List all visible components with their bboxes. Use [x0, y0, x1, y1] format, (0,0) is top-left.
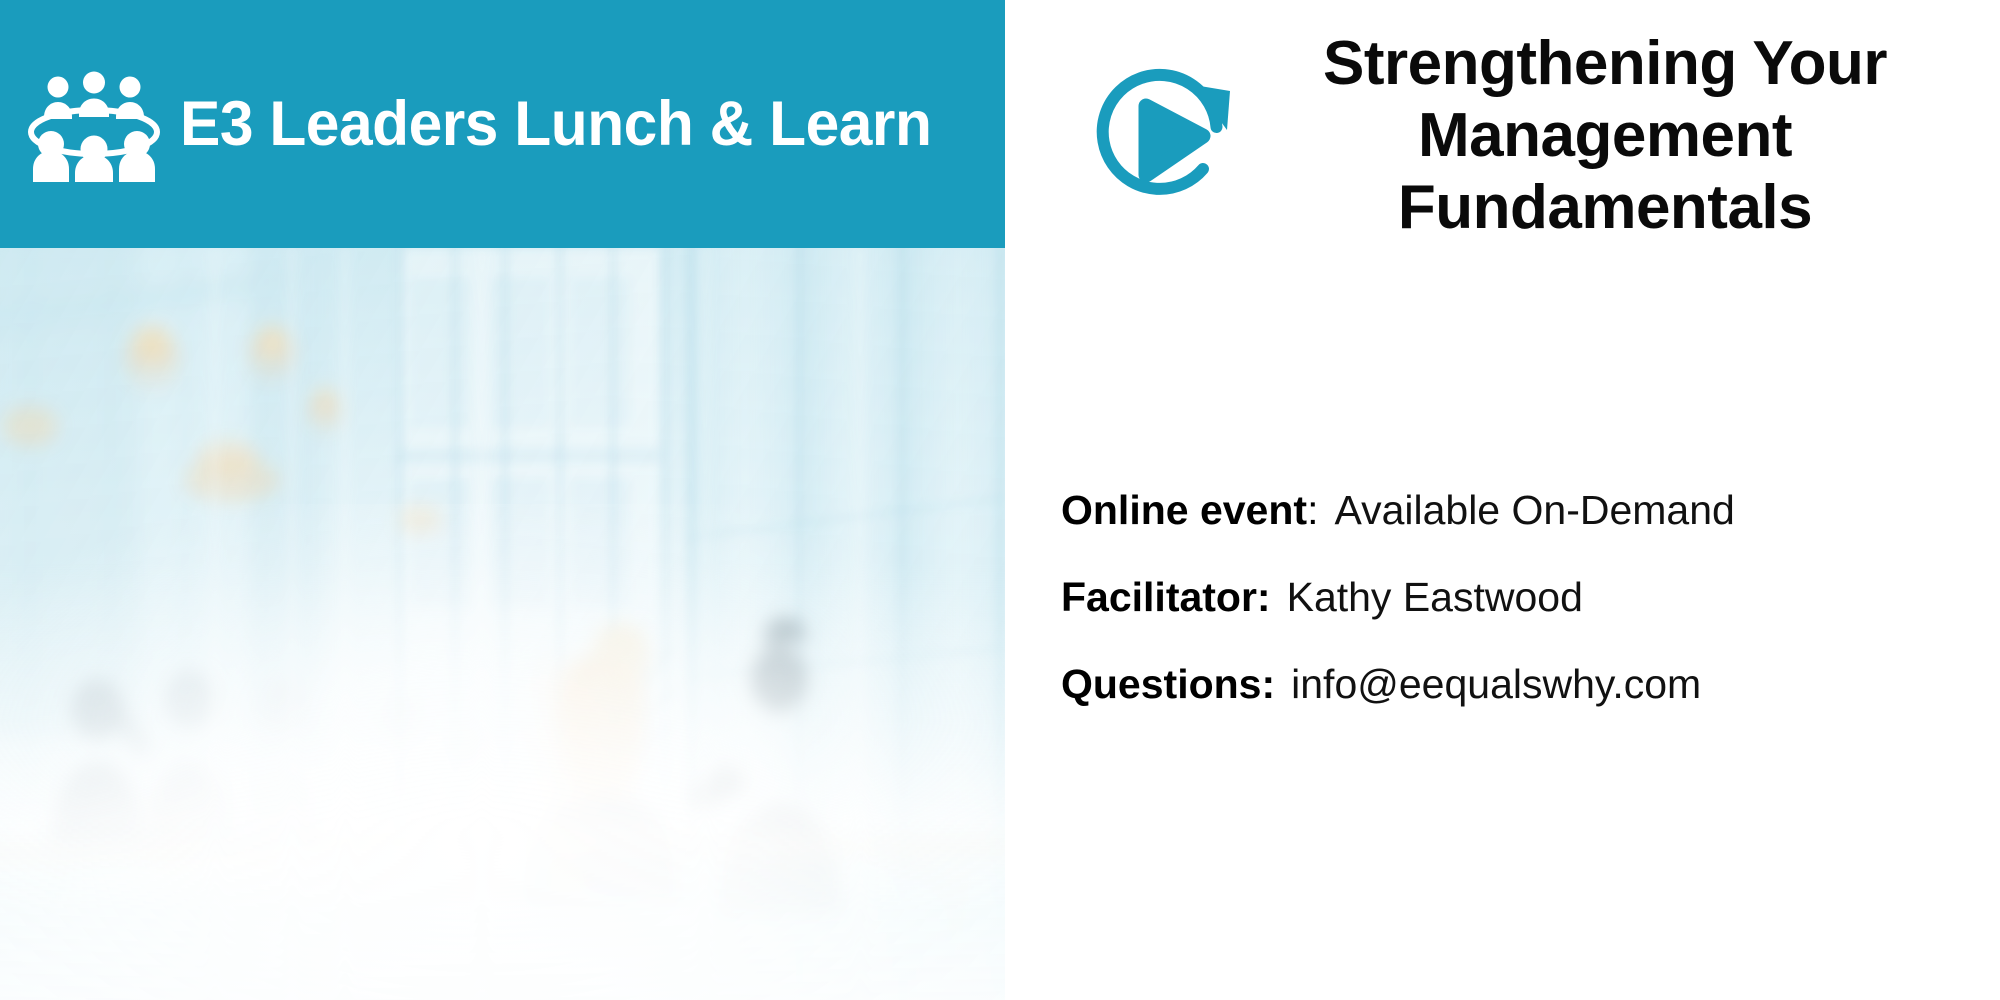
brand-banner: E3 Leaders Lunch & Learn: [0, 0, 1005, 248]
online-event-value: Available On-Demand: [1334, 487, 1734, 533]
event-details-list: Online event:Available On-Demand Facilit…: [1061, 490, 1981, 705]
detail-row-questions: Questions:info@eequalswhy.com: [1061, 664, 1981, 705]
left-column: E3 Leaders Lunch & Learn: [0, 0, 1005, 1000]
facilitator-label: Facilitator:: [1061, 574, 1271, 620]
facilitator-value: Kathy Eastwood: [1287, 574, 1583, 620]
questions-label: Questions:: [1061, 661, 1275, 707]
title-block: Strengthening Your Management Fundamenta…: [1005, 28, 2000, 278]
people-around-table-icon: [18, 70, 170, 182]
detail-row-facilitator: Facilitator:Kathy Eastwood: [1061, 577, 1981, 618]
event-promo-card: E3 Leaders Lunch & Learn: [0, 0, 2000, 1000]
session-title: Strengthening Your Management Fundamenta…: [1255, 28, 1955, 244]
session-title-line-3: Fundamentals: [1255, 172, 1955, 244]
conference-room-photo: [0, 248, 1005, 1000]
online-event-label: Online event: [1061, 487, 1307, 533]
detail-row-online-event: Online event:Available On-Demand: [1061, 490, 1981, 531]
replay-play-icon: [1085, 61, 1243, 211]
brand-wordmark: E3 Leaders Lunch & Learn: [180, 93, 931, 156]
online-event-separator: :: [1307, 487, 1318, 533]
session-title-line-2: Management: [1255, 100, 1955, 172]
session-title-line-1: Strengthening Your: [1255, 28, 1955, 100]
right-column: Strengthening Your Management Fundamenta…: [1005, 0, 2000, 1000]
questions-email-value[interactable]: info@eequalswhy.com: [1291, 661, 1701, 707]
